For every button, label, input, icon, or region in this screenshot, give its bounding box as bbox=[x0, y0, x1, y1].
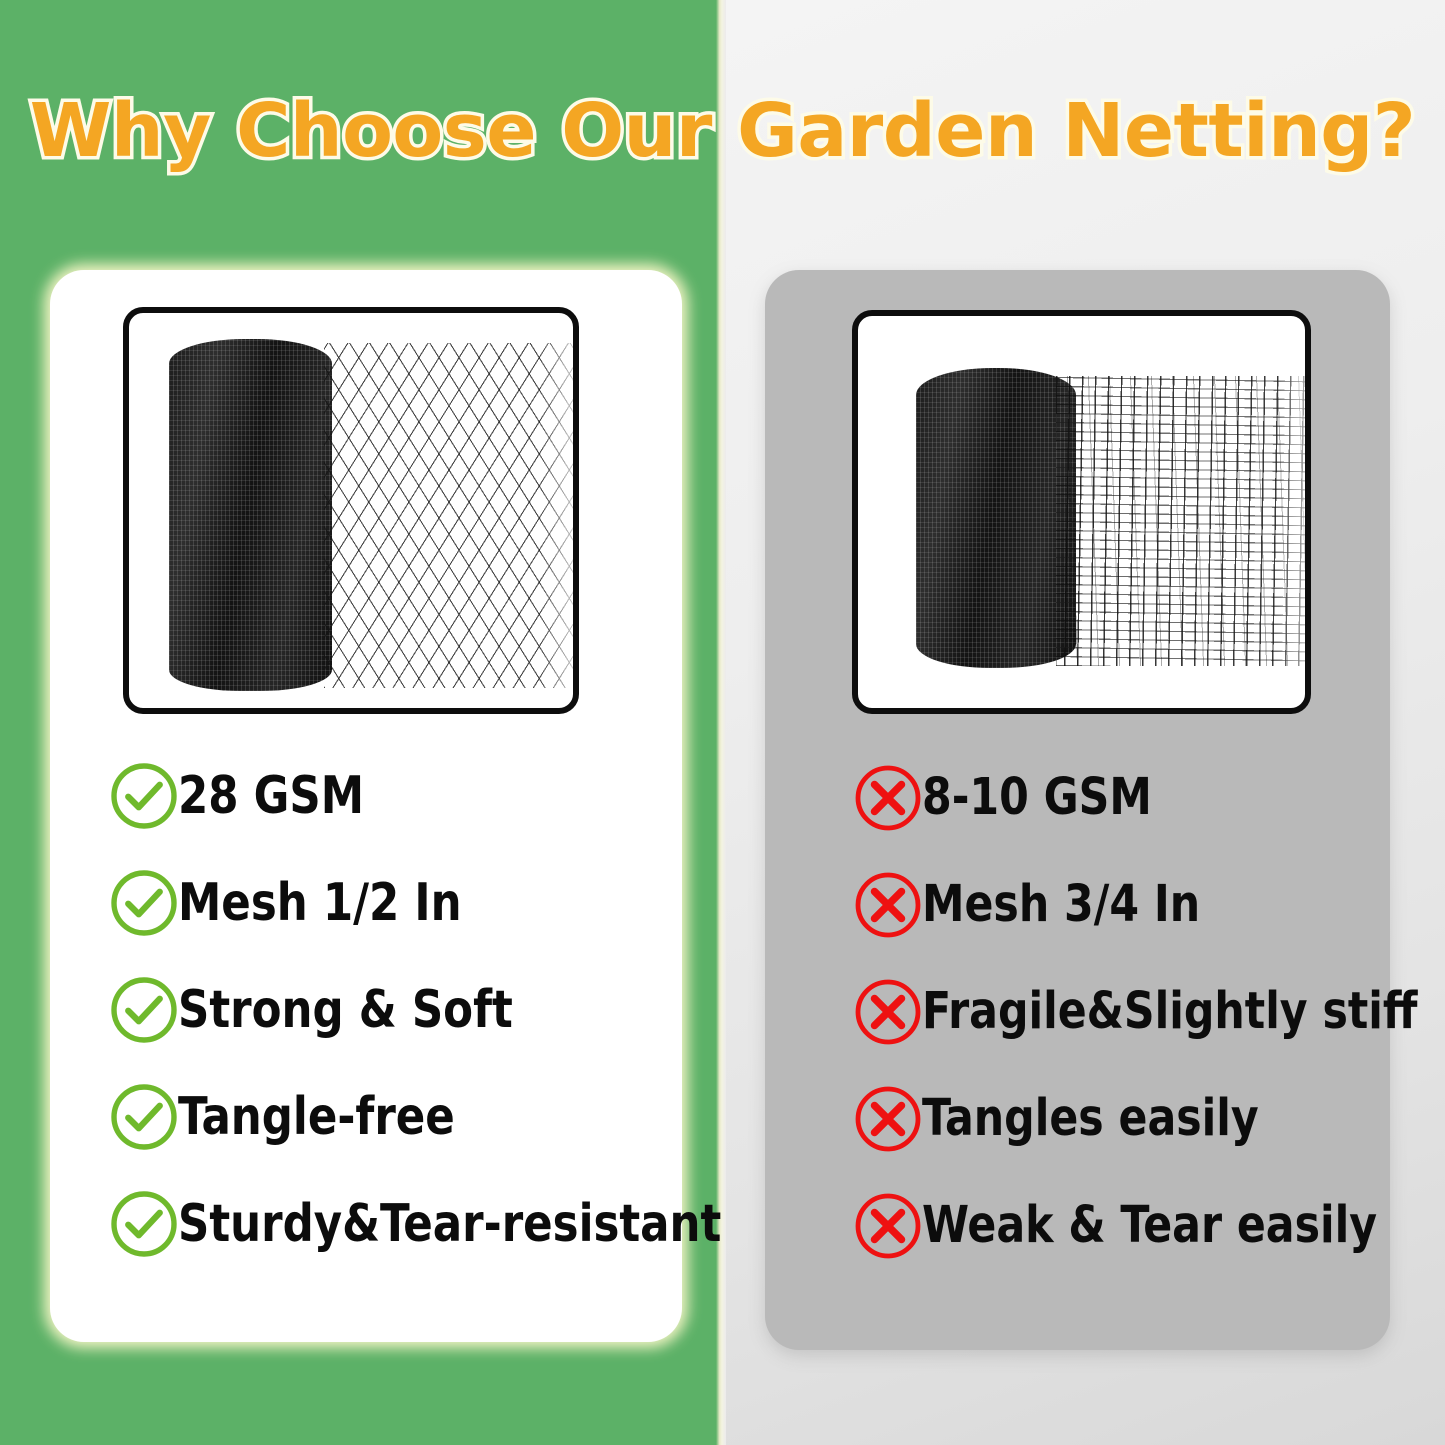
check-circle-icon bbox=[108, 760, 180, 832]
page-title: Why Choose Our Garden Netting? bbox=[30, 88, 1415, 174]
list-item: Weak & Tear easily bbox=[852, 1172, 1412, 1279]
square-mesh-icon bbox=[1056, 376, 1306, 666]
netting-roll-icon bbox=[169, 339, 332, 691]
cross-circle-icon bbox=[852, 1190, 924, 1262]
check-circle-icon bbox=[108, 867, 180, 939]
feature-label: Fragile&Slightly stiff bbox=[922, 986, 1417, 1037]
our-product-image bbox=[123, 307, 579, 714]
list-item: 28 GSM bbox=[108, 742, 728, 849]
our-product-photo bbox=[129, 313, 573, 708]
list-item: Fragile&Slightly stiff bbox=[852, 958, 1412, 1065]
list-item: Tangles easily bbox=[852, 1065, 1412, 1172]
list-item: Mesh 3/4 In bbox=[852, 851, 1412, 958]
list-item: Mesh 1/2 In bbox=[108, 849, 728, 956]
our-product-feature-list: 28 GSM Mesh 1/2 In Strong & Soft bbox=[108, 742, 728, 1277]
list-item: Strong & Soft bbox=[108, 956, 728, 1063]
check-circle-icon bbox=[108, 1081, 180, 1153]
list-item: Sturdy&Tear-resistant bbox=[108, 1170, 728, 1277]
page-title-container: Why Choose Our Garden Netting? bbox=[0, 88, 1445, 174]
competitor-product-photo bbox=[858, 316, 1305, 708]
list-item: Tangle-free bbox=[108, 1063, 728, 1170]
feature-label: 28 GSM bbox=[178, 770, 364, 822]
comparison-infographic: Why Choose Our Garden Netting? 28 GSM bbox=[0, 0, 1445, 1445]
feature-label: Strong & Soft bbox=[178, 984, 513, 1036]
feature-label: Sturdy&Tear-resistant bbox=[178, 1198, 721, 1250]
feature-label: Mesh 1/2 In bbox=[178, 877, 462, 929]
feature-label: Weak & Tear easily bbox=[922, 1200, 1377, 1251]
cross-circle-icon bbox=[852, 1083, 924, 1155]
feature-label: Tangles easily bbox=[922, 1093, 1259, 1144]
competitor-product-image bbox=[852, 310, 1311, 714]
cross-circle-icon bbox=[852, 976, 924, 1048]
check-circle-icon bbox=[108, 1188, 180, 1260]
feature-label: Mesh 3/4 In bbox=[922, 879, 1200, 930]
feature-label: 8-10 GSM bbox=[922, 772, 1152, 823]
netting-roll-icon bbox=[916, 368, 1076, 668]
cross-circle-icon bbox=[852, 869, 924, 941]
diamond-mesh-icon bbox=[324, 343, 574, 688]
cross-circle-icon bbox=[852, 762, 924, 834]
feature-label: Tangle-free bbox=[178, 1091, 455, 1143]
competitor-feature-list: 8-10 GSM Mesh 3/4 In Fragile&Slightly st… bbox=[852, 744, 1412, 1279]
check-circle-icon bbox=[108, 974, 180, 1046]
list-item: 8-10 GSM bbox=[852, 744, 1412, 851]
